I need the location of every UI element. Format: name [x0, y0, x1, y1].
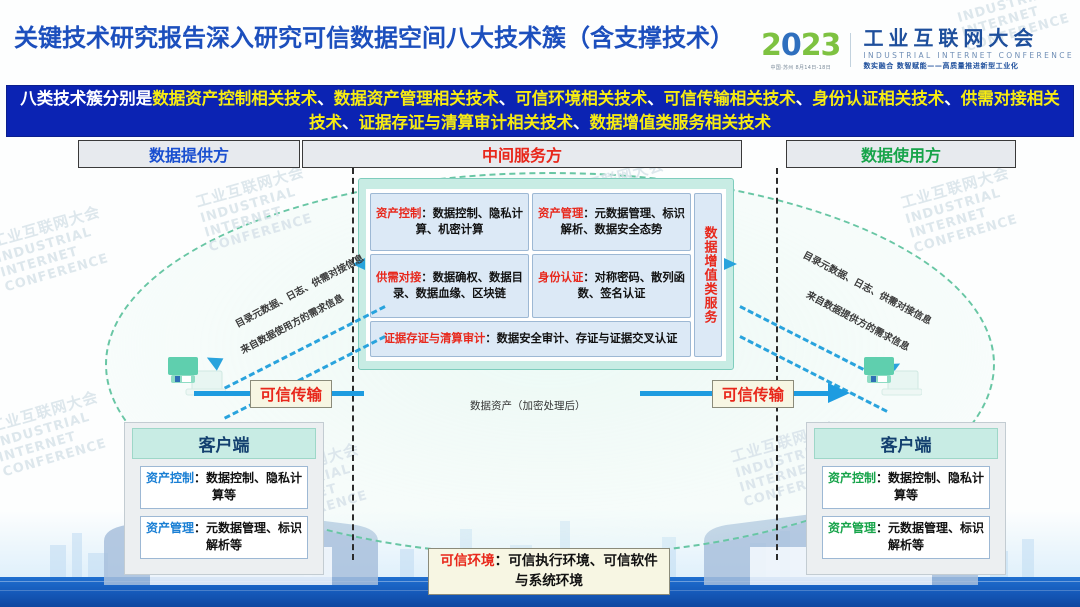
divider-middle-user [776, 168, 778, 560]
tech-box-identity-auth: 身份认证：对称密码、散列函数、签名认证 [532, 254, 691, 318]
logo-year-block: 2023 中国·苏州 8月14日-18日 [761, 31, 841, 71]
role-header-middle: 中间服务方 [302, 140, 742, 168]
computer-icon-right [862, 355, 922, 401]
technology-boxes: 资产控制：数据控制、隐私计算、机密计算 资产管理：元数据管理、标识解析、数据安全… [370, 193, 691, 357]
summary-banner-text: 八类技术簇分别是数据资产控制相关技术、数据资产管理相关技术、可信环境相关技术、可… [15, 87, 1065, 135]
logo-slogan: 数实融合 数智赋能——高质量推进新型工业化 [863, 61, 1074, 71]
label-data-asset-encrypted: 数据资产（加密处理后） [470, 398, 586, 413]
logo-name-cn: 工业互联网大会 [863, 28, 1074, 49]
technology-row-2: 供需对接：数据确权、数据目录、数据血缘、区块链 身份认证：对称密码、散列函数、签… [370, 254, 691, 318]
tech-box-asset-management-text: 资产管理：元数据管理、标识解析、数据安全态势 [537, 206, 686, 239]
client-box-left: 客户端 资产控制：数据控制、隐私计算等 资产管理：元数据管理、标识解析等 [124, 422, 324, 575]
tech-box-identity-auth-text: 身份认证：对称密码、散列函数、签名认证 [537, 270, 686, 303]
divider-provider-middle [352, 168, 354, 560]
slide-root: 工业互联网大会 INDUSTRIAL INTERNET CONFERENCE 工… [0, 0, 1080, 607]
role-header-user: 数据使用方 [786, 140, 1016, 168]
client-box-right: 客户端 资产控制：数据控制、隐私计算等 资产管理：元数据管理、标识解析等 [806, 422, 1006, 575]
conference-logo: 2023 中国·苏州 8月14日-18日 工业互联网大会 INDUSTRIAL … [761, 28, 1074, 71]
tech-box-asset-control: 资产控制：数据控制、隐私计算、机密计算 [370, 193, 529, 251]
arrow-head-center-right [724, 258, 737, 270]
tech-box-evidence-audit-text: 证据存证与清算审计：数据安全审计、存证与证据交叉认证 [384, 331, 678, 347]
logo-name-en: INDUSTRIAL INTERNET CONFERENCE [863, 51, 1074, 60]
logo-text-block: 工业互联网大会 INDUSTRIAL INTERNET CONFERENCE 数… [863, 28, 1074, 71]
technology-cluster-grid: 资产控制：数据控制、隐私计算、机密计算 资产管理：元数据管理、标识解析、数据安全… [366, 189, 726, 361]
page-title: 关键技术研究报告深入研究可信数据空间八大技术簇（含支撑技术） [14, 18, 734, 53]
transmission-arrow-right [828, 383, 850, 403]
client-right-item-asset-management: 资产管理：元数据管理、标识解析等 [822, 516, 990, 559]
banner-line-1: 八类技术簇分别是数据资产控制相关技术、数据资产管理相关技术、可信环境相关技术、可… [20, 89, 1060, 132]
tech-box-value-added-services-text: 数据增值类服务 [701, 226, 716, 324]
client-right-title: 客户端 [814, 428, 998, 459]
client-right-item-asset-control: 资产控制：数据控制、隐私计算等 [822, 466, 990, 509]
summary-banner: 八类技术簇分别是数据资产控制相关技术、数据资产管理相关技术、可信环境相关技术、可… [6, 85, 1074, 137]
technology-row-1: 资产控制：数据控制、隐私计算、机密计算 资产管理：元数据管理、标识解析、数据安全… [370, 193, 691, 251]
tech-box-supply-demand: 供需对接：数据确权、数据目录、数据血缘、区块链 [370, 254, 529, 318]
logo-divider [850, 33, 851, 67]
tech-box-asset-control-text: 资产控制：数据控制、隐私计算、机密计算 [375, 206, 524, 239]
tech-box-evidence-audit: 证据存证与清算审计：数据安全审计、存证与证据交叉认证 [370, 321, 691, 357]
logo-date: 中国·苏州 8月14日-18日 [770, 64, 830, 71]
trusted-environment-value: 可信执行环境、可信软件与系统环境 [508, 553, 658, 589]
role-header-provider: 数据提供方 [78, 140, 300, 168]
trusted-environment-key: 可信环境 [440, 553, 494, 569]
tech-box-value-added-services: 数据增值类服务 [694, 193, 722, 357]
client-left-item-asset-management: 资产管理：元数据管理、标识解析等 [140, 516, 308, 559]
client-left-item-asset-control: 资产控制：数据控制、隐私计算等 [140, 466, 308, 509]
trusted-environment-box: 可信环境：可信执行环境、可信软件与系统环境 [428, 548, 670, 595]
tech-box-asset-management: 资产管理：元数据管理、标识解析、数据安全态势 [532, 193, 691, 251]
logo-year: 2023 [761, 31, 841, 61]
client-left-title: 客户端 [132, 428, 316, 459]
role-header-row: 数据提供方 中间服务方 数据使用方 [78, 140, 1018, 168]
label-trusted-transmission-left: 可信传输 [250, 380, 332, 408]
label-trusted-transmission-right: 可信传输 [712, 380, 794, 408]
tech-box-supply-demand-text: 供需对接：数据确权、数据目录、数据血缘、区块链 [375, 270, 524, 303]
